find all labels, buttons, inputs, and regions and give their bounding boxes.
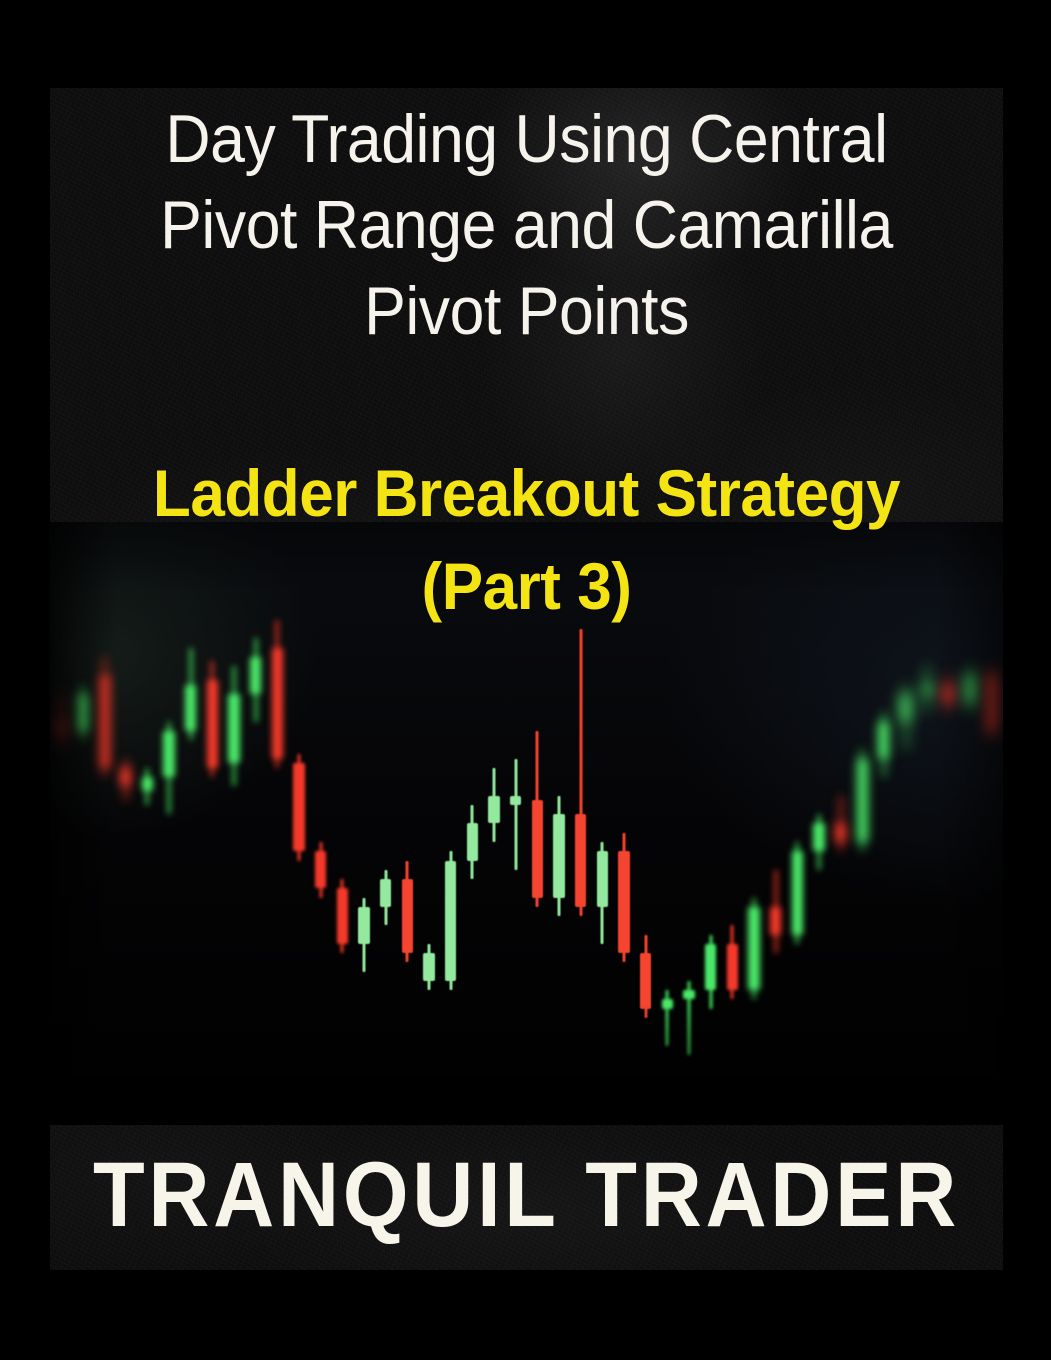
candlestick — [575, 629, 586, 916]
candlestick-body — [727, 944, 738, 990]
book-subtitle: Ladder Breakout Strategy (Part 3) — [79, 447, 975, 633]
candlestick — [987, 666, 998, 740]
candlestick — [142, 768, 153, 805]
candlestick — [792, 842, 803, 944]
candlestick — [467, 805, 478, 879]
candlestick — [358, 898, 369, 972]
candlestick — [185, 648, 196, 741]
candlestick — [423, 944, 434, 990]
candlestick-body — [835, 823, 846, 842]
candlestick — [510, 759, 521, 870]
candlestick — [163, 722, 174, 815]
candlestick-body — [380, 879, 391, 907]
candlestick — [337, 879, 348, 953]
candlestick — [900, 685, 911, 750]
candlestick-body — [705, 944, 716, 990]
candlestick — [662, 990, 673, 1046]
candlestick — [315, 842, 326, 898]
subtitle-line-1: Ladder Breakout Strategy — [79, 447, 975, 540]
candlestick-body — [878, 722, 889, 759]
candlestick — [727, 925, 738, 999]
candlestick — [120, 759, 131, 801]
candlestick — [683, 981, 694, 1055]
candlestick — [878, 712, 889, 777]
candlestick-body — [207, 680, 218, 768]
candlestick-body — [510, 796, 521, 805]
candlestick-body — [792, 851, 803, 934]
author-name: TRANQUIL TRADER — [88, 1146, 965, 1244]
candlestick — [857, 749, 868, 851]
candlestick-wick — [514, 759, 517, 870]
title-line-3: Pivot Points — [88, 268, 965, 354]
candlestick-body — [532, 800, 543, 897]
candlestick-body — [250, 657, 261, 694]
candlestick — [553, 796, 564, 916]
candlestick-body — [987, 675, 998, 731]
candlestick — [922, 666, 933, 712]
candlestick-body — [857, 759, 868, 842]
subtitle-line-2: (Part 3) — [79, 540, 975, 633]
candlestick — [597, 842, 608, 944]
candlestick — [250, 638, 261, 721]
candlestick-body — [120, 768, 131, 787]
candlestick-body — [662, 999, 673, 1008]
candlestick-body — [640, 953, 651, 1009]
candlestick-body — [965, 675, 976, 703]
candlestick-body — [423, 953, 434, 981]
candlestick-body — [683, 990, 694, 999]
candlestick-body — [228, 694, 239, 763]
candlestick-body — [142, 777, 153, 791]
candlestick — [293, 754, 304, 860]
candlestick-body — [293, 763, 304, 851]
candlestick — [705, 935, 716, 1009]
candlestick — [813, 814, 824, 870]
candlestick — [943, 675, 954, 712]
candlestick — [618, 833, 629, 963]
candlestick-body — [55, 722, 66, 731]
candlestick-body — [77, 694, 88, 731]
candlestick-body — [943, 685, 954, 704]
candlestick — [402, 861, 413, 963]
candlestick-body — [99, 675, 110, 768]
candlestick-body — [618, 851, 629, 953]
candlestick-body — [553, 814, 564, 897]
book-title: Day Trading Using Central Pivot Range an… — [88, 96, 965, 354]
candlestick — [835, 796, 846, 852]
candlestick — [445, 851, 456, 990]
candlestick — [488, 768, 499, 842]
candlestick-body — [770, 907, 781, 935]
candlestick — [380, 870, 391, 926]
candlestick — [770, 870, 781, 953]
candlestick — [748, 898, 759, 1000]
candlestick — [99, 657, 110, 777]
candlestick — [77, 685, 88, 741]
candlestick — [640, 935, 651, 1018]
candlestick-body — [575, 814, 586, 907]
candlestick-body — [597, 851, 608, 907]
book-cover: Day Trading Using Central Pivot Range an… — [0, 0, 1051, 1360]
candlestick-body — [163, 731, 174, 777]
candlestick — [965, 666, 976, 712]
title-line-1: Day Trading Using Central — [88, 96, 965, 182]
candlestick-body — [488, 796, 499, 824]
candlestick — [272, 620, 283, 768]
candlestick-body — [748, 907, 759, 990]
candlestick-body — [337, 888, 348, 944]
candlestick — [532, 731, 543, 907]
candlestick-body — [445, 861, 456, 981]
candlestick-body — [315, 851, 326, 888]
candlestick — [207, 661, 218, 777]
candlestick-body — [185, 685, 196, 731]
title-line-2: Pivot Range and Camarilla — [88, 182, 965, 268]
candlestick-body — [900, 694, 911, 722]
candlestick-body — [272, 648, 283, 759]
candlestick — [228, 666, 239, 786]
candlestick-body — [358, 907, 369, 944]
candlestick-body — [467, 823, 478, 860]
candlestick-body — [922, 685, 933, 694]
candlestick-body — [813, 823, 824, 851]
candlestick — [55, 694, 66, 750]
candlestick-body — [402, 879, 413, 953]
